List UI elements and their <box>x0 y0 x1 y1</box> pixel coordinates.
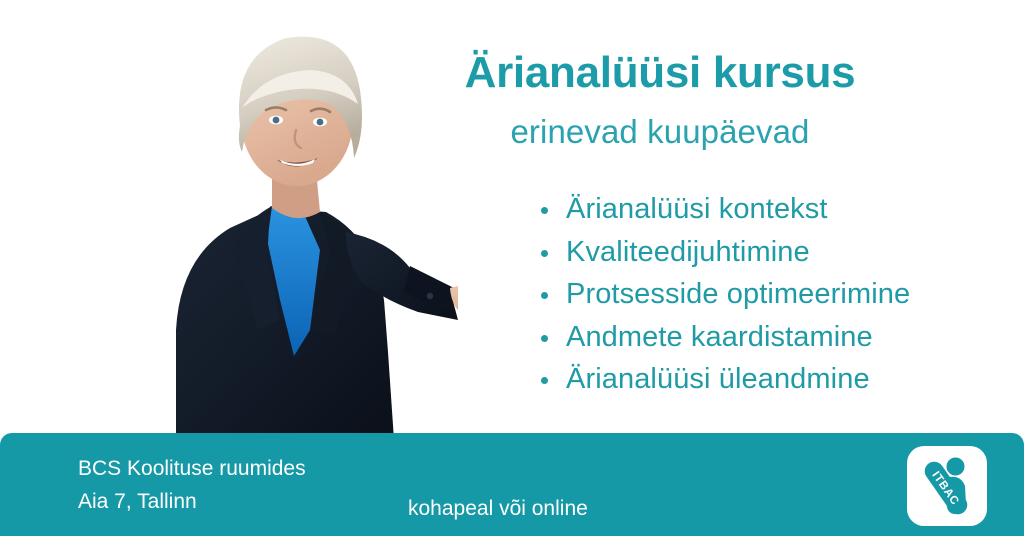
bullet-dot-icon <box>541 377 548 384</box>
bullet-dot-icon <box>541 207 548 214</box>
topic-label: Ärianalüüsi kontekst <box>566 193 828 225</box>
venue-block: BCS Koolituse ruumides Aia 7, Tallinn <box>78 452 306 518</box>
list-item: Kvaliteedijuhtimine <box>536 231 910 274</box>
topic-label: Kvaliteedijuhtimine <box>566 236 810 268</box>
topic-label: Ärianalüüsi üleandmine <box>566 363 870 395</box>
list-item: Protsesside optimeerimine <box>536 273 910 316</box>
topic-label: Protsesside optimeerimine <box>566 278 910 310</box>
page-subtitle: erinevad kuupäevad <box>440 113 880 151</box>
bullet-dot-icon <box>541 292 548 299</box>
page-title: Ärianalüüsi kursus <box>440 50 880 96</box>
list-item: Andmete kaardistamine <box>536 316 910 359</box>
bullet-dot-icon <box>541 335 548 342</box>
course-promo-banner: Ärianalüüsi kursus erinevad kuupäevad Är… <box>0 0 1024 536</box>
attendance-mode: kohapeal või online <box>408 496 588 522</box>
venue-line-1: BCS Koolituse ruumides <box>78 452 306 485</box>
presenter-photo <box>58 0 458 440</box>
list-item: Ärianalüüsi kontekst <box>536 188 910 231</box>
venue-line-2: Aia 7, Tallinn <box>78 485 306 518</box>
topic-list: Ärianalüüsi kontekst Kvaliteedijuhtimine… <box>536 188 910 401</box>
topic-label: Andmete kaardistamine <box>566 321 873 353</box>
itbac-logo: ITBAC <box>907 446 987 526</box>
bullet-dot-icon <box>541 250 548 257</box>
course-content: Ärianalüüsi kursus erinevad kuupäevad Är… <box>440 0 1024 433</box>
list-item: Ärianalüüsi üleandmine <box>536 358 910 401</box>
